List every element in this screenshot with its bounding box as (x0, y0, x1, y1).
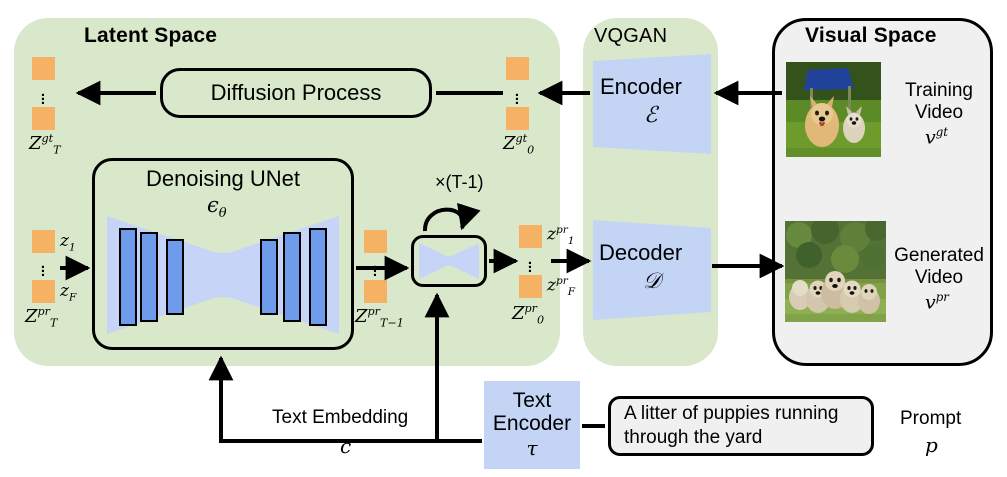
diagram-canvas: Latent Space VQGAN Visual Space ... ZgtT… (0, 0, 1007, 477)
arrow-cond-to-recurrent-unet (437, 295, 482, 441)
arrow-recurrent-loop (425, 210, 463, 231)
arrow-cond-to-denoising-unet (221, 358, 482, 441)
arrow-layer (0, 0, 1007, 477)
